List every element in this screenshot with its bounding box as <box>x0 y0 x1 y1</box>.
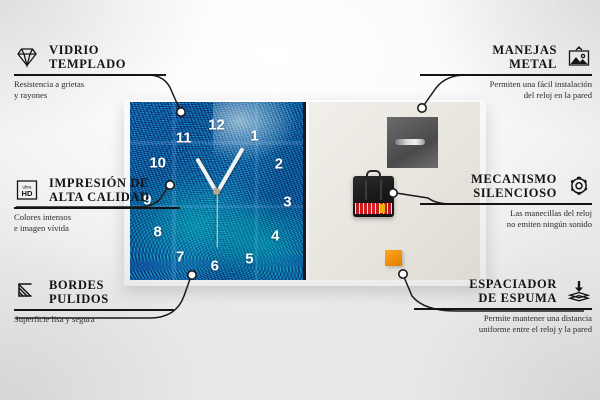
feature-rule <box>414 308 592 310</box>
clock-center-cap <box>213 188 220 195</box>
movement-seam <box>380 180 382 200</box>
hanger-slot <box>395 139 425 145</box>
svg-text:HD: HD <box>22 189 33 198</box>
movement-label-badge <box>380 204 385 213</box>
polished-edges-icon <box>14 280 40 304</box>
feature-title: MANEJAS METAL <box>492 43 557 71</box>
feature-subtitle: Colores intensos e imagen vívida <box>14 212 204 234</box>
movement-label <box>355 203 392 214</box>
feature-impresion-alta-calidad: ultra HD IMPRESIÓN DE ALTA CALIDAD Color… <box>14 176 204 234</box>
feature-vidrio-templado: VIDRIO TEMPLADO Resistencia a grietas y … <box>14 43 184 101</box>
feature-title-row: MANEJAS METAL <box>402 43 592 71</box>
ultra-hd-icon: ultra HD <box>14 178 40 202</box>
feature-manejas-metal: MANEJAS METAL Permiten una fácil instala… <box>402 43 592 101</box>
movement-seam <box>365 180 367 200</box>
feature-title-row: MECANISMO SILENCIOSO <box>402 172 592 200</box>
feature-title: ESPACIADOR DE ESPUMA <box>469 277 557 305</box>
orange-foam-spacer <box>385 250 402 266</box>
clock-hour-5: 5 <box>245 251 253 266</box>
feature-title-row: ultra HD IMPRESIÓN DE ALTA CALIDAD <box>14 176 204 204</box>
feature-title: IMPRESIÓN DE ALTA CALIDAD <box>49 176 150 204</box>
movement-shaft <box>366 170 381 178</box>
feature-title-row: BORDES PULIDOS <box>14 278 192 306</box>
feature-bordes-pulidos: BORDES PULIDOS Superficie lisa y segura <box>14 278 192 325</box>
gear-icon <box>566 174 592 198</box>
feature-rule <box>14 207 180 209</box>
feature-title: VIDRIO TEMPLADO <box>49 43 126 71</box>
feature-subtitle: Permite mantener una distancia uniforme … <box>396 313 592 335</box>
infographic-canvas: 12 1 2 3 4 5 6 7 8 9 10 11 <box>0 0 600 400</box>
clock-hour-3: 3 <box>283 194 291 209</box>
feature-subtitle: Superficie lisa y segura <box>14 314 192 325</box>
clock-hour-1: 1 <box>250 128 258 143</box>
feature-title: BORDES PULIDOS <box>49 278 109 306</box>
feature-rule <box>420 203 592 205</box>
clock-hour-2: 2 <box>275 157 283 172</box>
feature-mecanismo-silencioso: MECANISMO SILENCIOSO Las manecillas del … <box>402 172 592 230</box>
movement-label-ticks <box>355 203 392 214</box>
clock-second-hand <box>216 192 217 248</box>
foam-spacer-arrow-icon <box>566 279 592 303</box>
metal-hanger-plate <box>387 117 438 168</box>
feature-title: MECANISMO SILENCIOSO <box>471 172 557 200</box>
picture-frame-hanger-icon <box>566 45 592 69</box>
feature-espaciador-espuma: ESPACIADOR DE ESPUMA Permite mantener un… <box>396 277 592 335</box>
clock-hour-6: 6 <box>211 258 219 273</box>
clock-hour-11: 11 <box>176 130 192 145</box>
feature-rule <box>420 74 592 76</box>
clock-movement-mechanism <box>353 176 394 217</box>
feature-subtitle: Resistencia a grietas y rayones <box>14 79 184 101</box>
diamond-icon <box>14 45 40 69</box>
clock-hour-7: 7 <box>176 249 184 264</box>
feature-title-row: VIDRIO TEMPLADO <box>14 43 184 71</box>
clock-hour-4: 4 <box>271 228 279 243</box>
clock-hour-10: 10 <box>149 155 166 170</box>
feature-title-row: ESPACIADOR DE ESPUMA <box>396 277 592 305</box>
feature-subtitle: Permiten una fácil instalación del reloj… <box>402 79 592 101</box>
feature-subtitle: Las manecillas del reloj no emiten ningú… <box>402 208 592 230</box>
clock-hour-12: 12 <box>208 118 225 133</box>
feature-rule <box>14 309 174 311</box>
feature-rule <box>14 74 166 76</box>
